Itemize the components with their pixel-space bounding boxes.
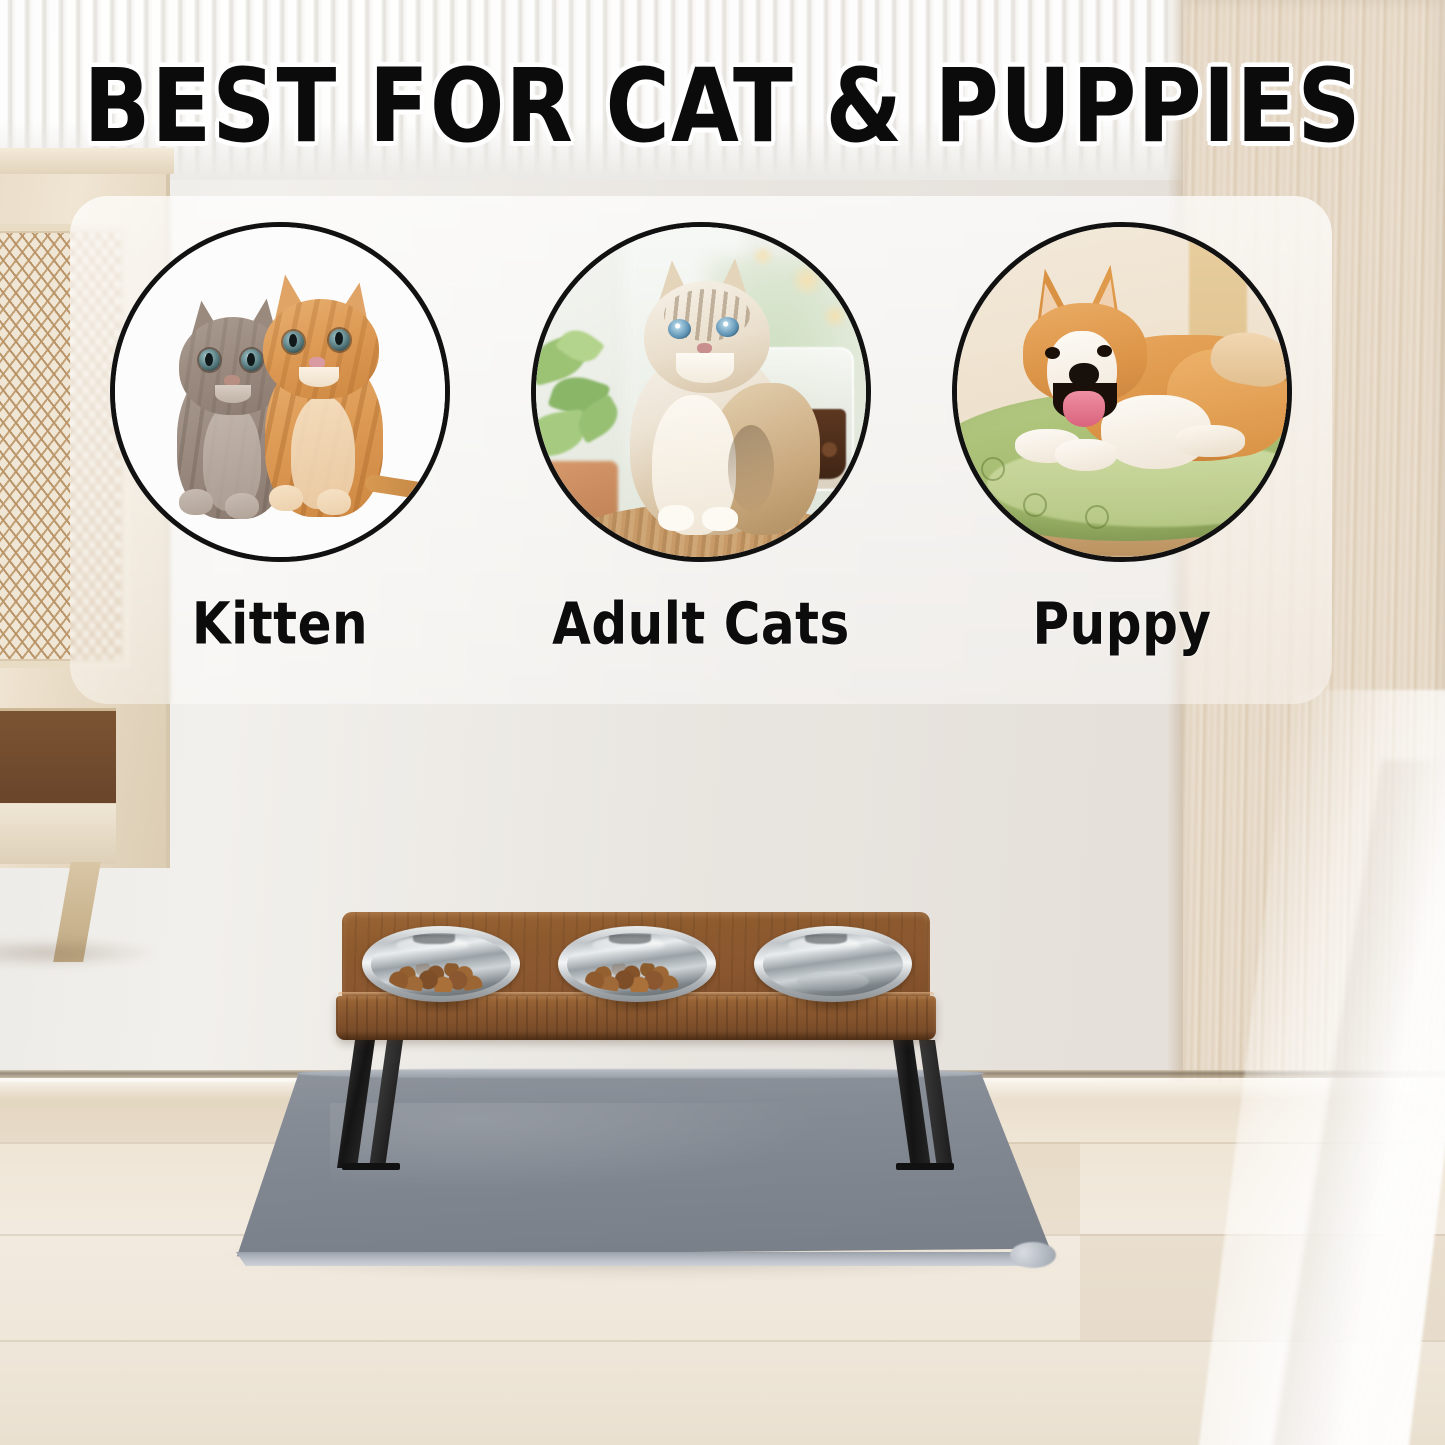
bowl-hole-shadow [786,1000,882,1014]
dry-kibble [388,963,494,992]
mat-rim-front [231,1252,1049,1266]
feeder-foot-left [342,1163,400,1170]
mat-sheen [330,1103,821,1191]
bowl-base [797,971,870,991]
feeder-foot-right [896,1163,954,1170]
wooden-feeder-board [336,912,936,1040]
dry-kibble [584,963,690,992]
product-marketing-image: BEST FOR CAT & PUPPIES [0,0,1445,1445]
feeder-bowl-center [558,926,716,1002]
mat-corner [1010,1242,1056,1268]
bowl-interior [371,933,511,996]
bowl-hole-shadow [590,1000,686,1014]
feeder-bowl-right [754,926,912,1002]
bowl-interior [567,933,707,996]
mat-rim-back [297,1069,984,1078]
product-photo [0,0,1445,1445]
bowl-hole-shadow [394,1000,490,1014]
feeder-bowl-left [362,926,520,1002]
bowl-interior [763,933,903,996]
